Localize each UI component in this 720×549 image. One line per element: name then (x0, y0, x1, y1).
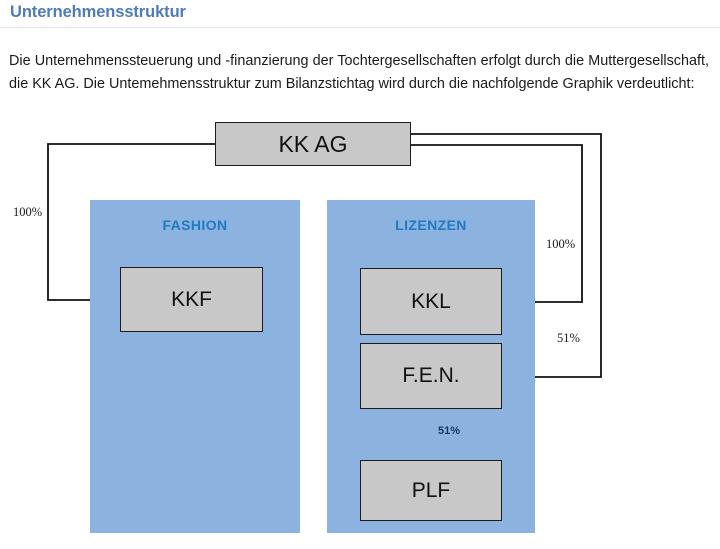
edge-label-kkag-fen: 51% (557, 331, 580, 346)
entity-box-kkl[interactable]: KKL (360, 268, 502, 335)
division-title-fashion: FASHION (90, 217, 300, 233)
entity-box-kkag[interactable]: KK AG (215, 122, 411, 166)
entity-box-fen[interactable]: F.E.N. (360, 343, 502, 409)
edge-label-kkag-kkl: 100% (546, 237, 575, 252)
division-title-lizenzen: LIZENZEN (327, 217, 535, 233)
org-structure-diagram: FASHION LIZENZEN KK AG KKF KKL F.E.N. PL… (0, 0, 720, 549)
edge-label-kkag-kkf: 100% (13, 205, 42, 220)
entity-box-plf[interactable]: PLF (360, 460, 502, 521)
division-panel-fashion: FASHION (90, 200, 300, 533)
entity-box-kkf[interactable]: KKF (120, 267, 263, 332)
edge-label-fen-plf: 51% (438, 425, 460, 437)
